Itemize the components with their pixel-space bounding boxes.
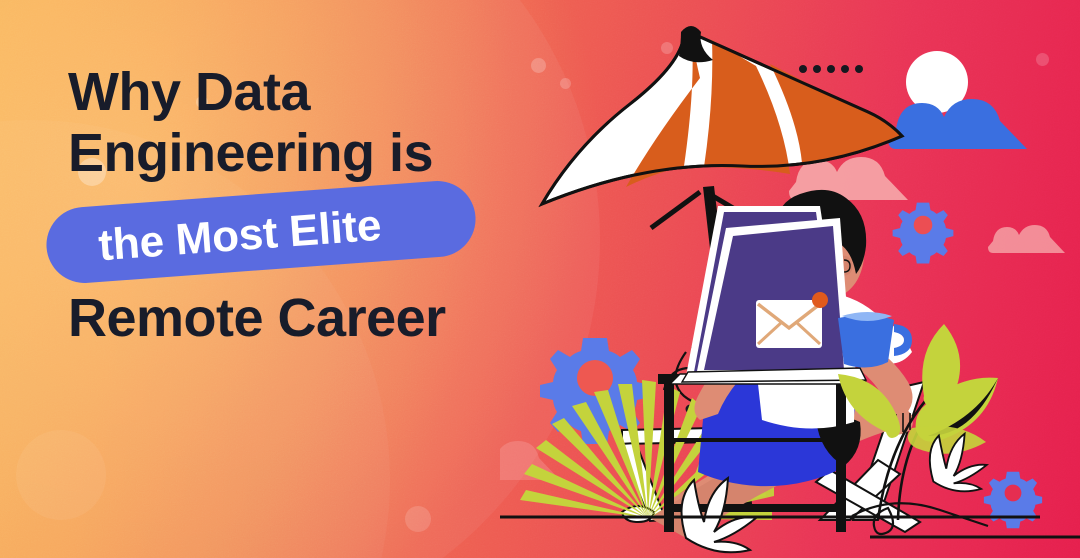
gear-top: [893, 203, 954, 264]
banner: Why Data Engineering is the Most Elite R…: [0, 0, 1080, 558]
background-speck: [405, 506, 431, 532]
envelope-badge: [812, 292, 828, 308]
envelope: [756, 292, 828, 348]
dots-five: [799, 65, 863, 73]
illustration: [500, 0, 1080, 558]
cloud-pink-right: [988, 225, 1065, 253]
background-speck: [16, 430, 106, 520]
cloud-blue: [888, 99, 1027, 149]
gear-small: [984, 472, 1042, 529]
